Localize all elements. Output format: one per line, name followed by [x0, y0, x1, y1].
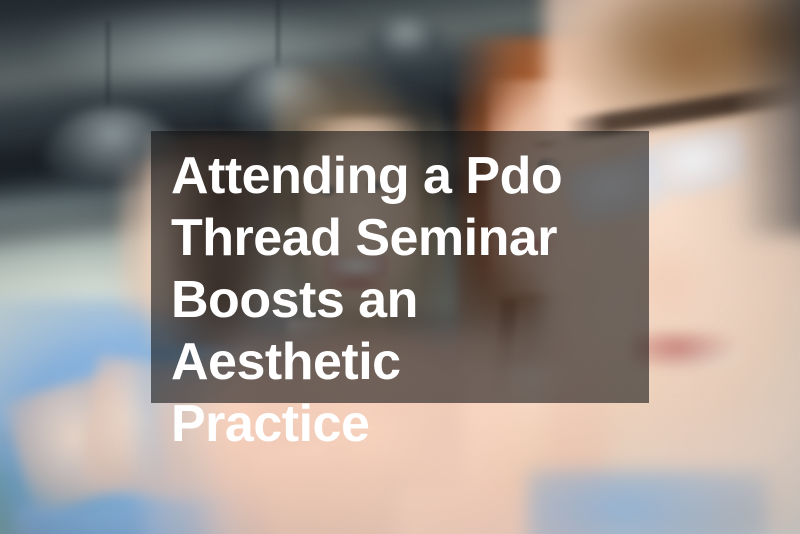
page-title: Attending a Pdo Thread Seminar Boosts an…	[171, 145, 649, 455]
headline-overlay-panel: Attending a Pdo Thread Seminar Boosts an…	[151, 131, 649, 403]
hero-banner: Attending a Pdo Thread Seminar Boosts an…	[0, 0, 800, 534]
